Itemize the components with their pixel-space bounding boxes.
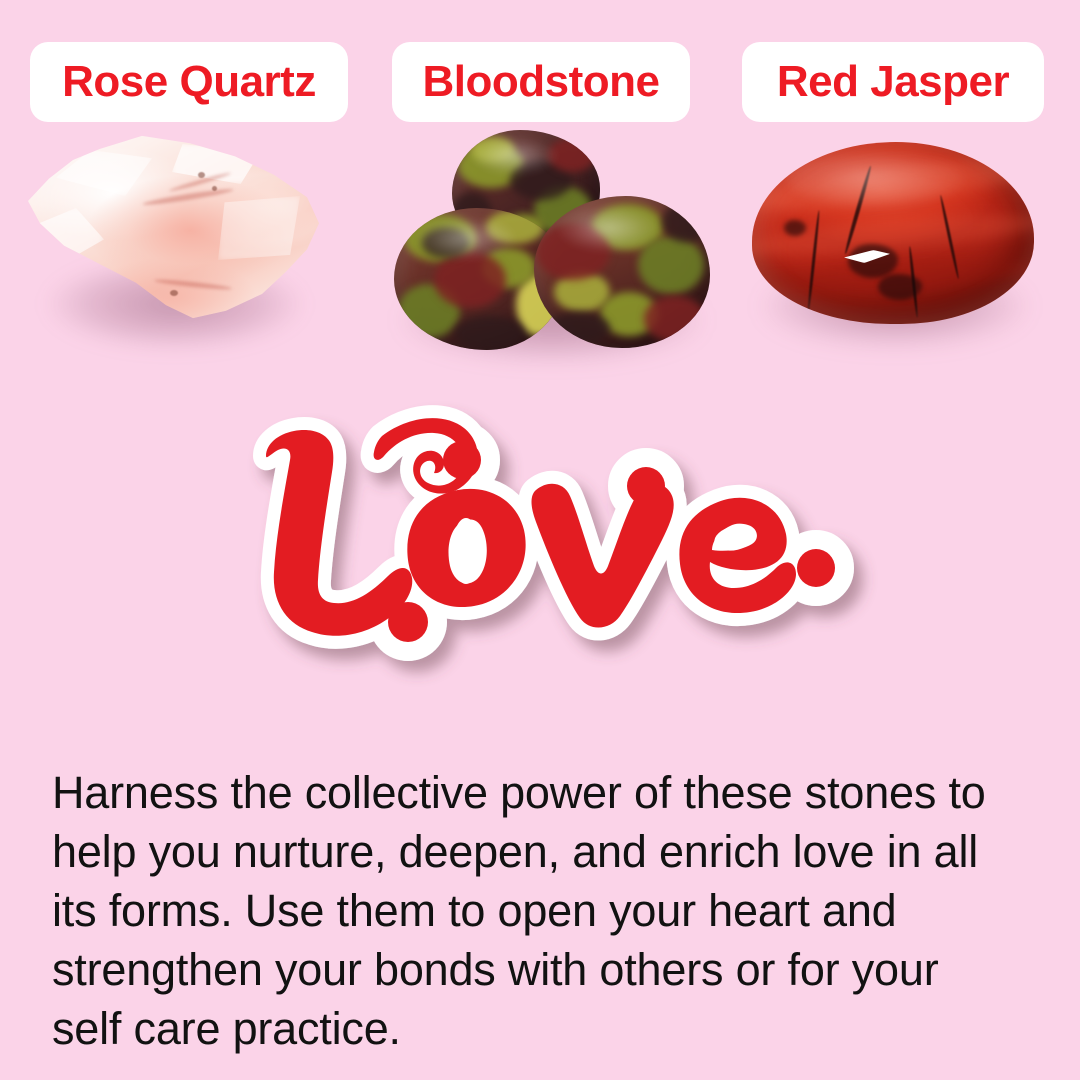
stone-label-text: Bloodstone <box>423 60 660 104</box>
love-swash-dot <box>388 602 428 642</box>
love-crystals-poster: Rose Quartz Bloodstone Red Jasper <box>0 0 1080 1080</box>
red-jasper-vein <box>807 210 821 314</box>
stone-label-row: Rose Quartz Bloodstone Red Jasper <box>0 42 1080 122</box>
stone-label-pill-red-jasper[interactable]: Red Jasper <box>742 42 1044 122</box>
bloodstone-green-mottle <box>486 210 544 244</box>
red-jasper-gloss <box>786 152 964 206</box>
bloodstone-dark-patch <box>454 316 524 350</box>
love-o-counter <box>452 518 480 584</box>
bloodstone-dark-patch <box>548 312 610 344</box>
stone-label-pill-bloodstone[interactable]: Bloodstone <box>392 42 690 122</box>
bloodstone-pebble <box>534 196 710 348</box>
red-jasper-stone-image <box>746 136 1044 356</box>
rose-quartz-stone-image <box>22 134 322 349</box>
bloodstone-dark-patch <box>422 228 470 258</box>
bloodstone-red-patch <box>434 252 506 308</box>
love-swash-dot <box>797 549 835 587</box>
rose-quartz-facet <box>56 150 152 196</box>
love-swash-dot <box>627 467 665 505</box>
rose-quartz-inclusion <box>198 172 205 178</box>
bloodstone-red-patch <box>536 224 610 280</box>
love-letterforms <box>266 418 841 648</box>
love-swash-dot <box>443 441 481 479</box>
bloodstone-red-patch <box>644 296 706 342</box>
body-paragraph: Harness the collective power of these st… <box>52 763 1012 1058</box>
rose-quartz-facet <box>218 196 300 260</box>
stone-label-text: Red Jasper <box>777 60 1009 104</box>
stone-label-text: Rose Quartz <box>62 60 316 104</box>
red-jasper-polished-body <box>752 142 1034 324</box>
rose-quartz-inclusion <box>212 186 217 191</box>
love-wordmark: Love <box>248 398 832 698</box>
rose-quartz-inclusion <box>170 290 178 296</box>
bloodstone-red-patch <box>548 138 596 172</box>
bloodstone-green-mottle <box>638 236 704 294</box>
bloodstone-green-mottle <box>404 214 476 262</box>
stone-image-row <box>0 128 1080 388</box>
bloodstone-stone-image <box>392 130 712 368</box>
rose-quartz-vein <box>142 187 234 207</box>
rose-quartz-vein <box>154 278 232 291</box>
bloodstone-green-mottle <box>470 136 514 162</box>
stone-label-pill-rose-quartz[interactable]: Rose Quartz <box>30 42 348 122</box>
bloodstone-dark-patch <box>662 202 710 242</box>
